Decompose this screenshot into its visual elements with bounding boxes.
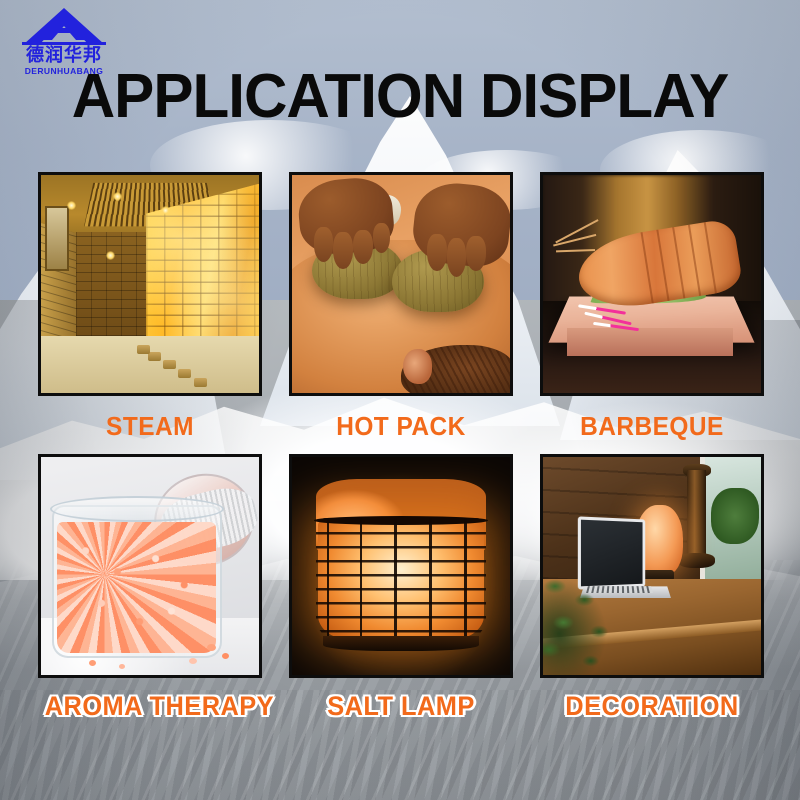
- salt-lamp-thumbnail[interactable]: [289, 454, 513, 678]
- steam-thumbnail[interactable]: [38, 172, 262, 396]
- barbeque-thumbnail[interactable]: [540, 172, 764, 396]
- gallery-cell-decoration[interactable]: DECORATION: [540, 454, 764, 720]
- hot-pack-thumbnail[interactable]: [289, 172, 513, 396]
- gallery-row: STEAM: [38, 172, 764, 439]
- aroma-therapy-thumbnail[interactable]: [38, 454, 262, 678]
- gallery-cell-barbeque[interactable]: BARBEQUE: [540, 172, 764, 439]
- gallery-cell-steam[interactable]: STEAM: [38, 172, 262, 439]
- decoration-thumbnail[interactable]: [540, 454, 764, 678]
- basket-salt-lamp-photo: [292, 457, 510, 675]
- gallery-label-decoration: DECORATION: [547, 693, 758, 720]
- gallery-row: AROMA THERAPY SALT LAMP: [38, 454, 764, 720]
- gallery-label-salt-lamp: SALT LAMP: [296, 693, 507, 720]
- gallery-cell-hot-pack[interactable]: HOT PACK: [289, 172, 513, 439]
- gallery-cell-aroma-therapy[interactable]: AROMA THERAPY: [38, 454, 262, 720]
- gallery-label-barbeque: BARBEQUE: [547, 413, 758, 439]
- gallery-label-aroma-therapy: AROMA THERAPY: [45, 693, 256, 720]
- application-gallery: STEAM: [38, 172, 764, 720]
- gallery-label-hot-pack: HOT PACK: [296, 413, 507, 439]
- prawn-on-salt-block-photo: [543, 175, 761, 393]
- desk-with-salt-lamp-photo: [543, 457, 761, 675]
- gallery-label-steam: STEAM: [45, 413, 256, 439]
- salt-hot-pack-massage-photo: [292, 175, 510, 393]
- page-title: APPLICATION DISPLAY: [12, 66, 788, 128]
- mountain-a-icon: [12, 6, 116, 46]
- gallery-cell-salt-lamp[interactable]: SALT LAMP: [289, 454, 513, 720]
- salt-brick-steam-room-photo: [41, 175, 259, 393]
- pink-bath-salt-jar-photo: [41, 457, 259, 675]
